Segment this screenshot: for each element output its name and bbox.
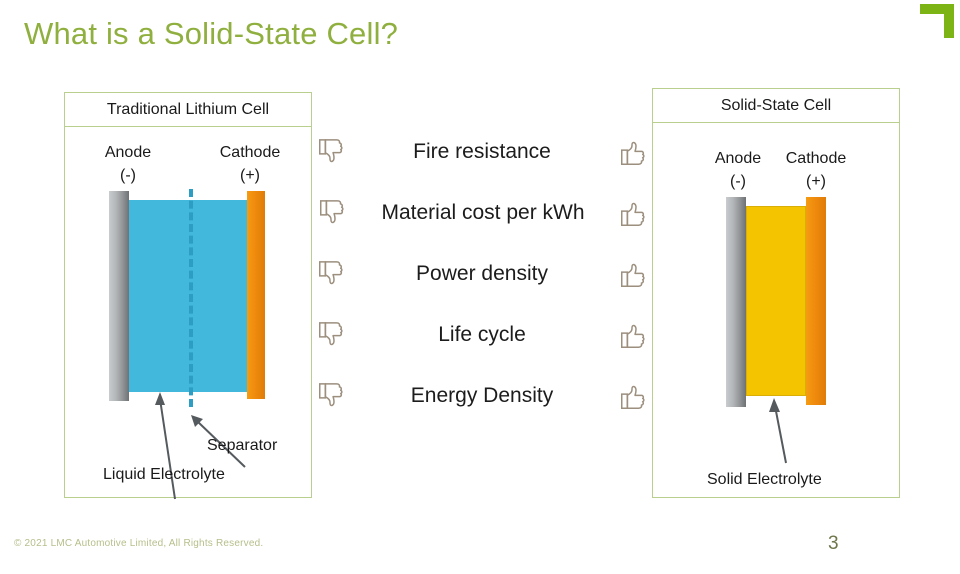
left-cathode-bar: [247, 191, 265, 399]
comparison-label-1: Fire resistance: [346, 140, 618, 164]
copyright-notice: © 2021 LMC Automotive Limited, All Right…: [14, 538, 263, 549]
right-anode-sign: (-): [697, 170, 779, 193]
comparison-row-5: Energy Density: [316, 374, 648, 418]
right-cathode-bar: [806, 197, 826, 405]
page-number: 3: [828, 533, 839, 555]
comparison-label-5: Energy Density: [346, 384, 618, 408]
page-title: What is a Solid-State Cell?: [24, 16, 398, 52]
comparison-row-2: Material cost per kWh: [316, 191, 648, 235]
separator-callout-label: Separator: [207, 437, 277, 455]
thumbs-up-icon: [618, 320, 648, 350]
left-anode-label: Anode: [75, 141, 181, 164]
left-cathode-label: Cathode: [197, 141, 303, 164]
left-separator-line: [189, 189, 193, 407]
solid-electrolyte-callout-label: Solid Electrolyte: [707, 471, 822, 489]
left-anode-bar: [109, 191, 129, 401]
comparison-label-2: Material cost per kWh: [348, 201, 618, 225]
comparison-list: Fire resistance Material cost per kWh: [316, 130, 648, 430]
right-anode-label: Anode: [697, 147, 779, 170]
slide-canvas: What is a Solid-State Cell? Traditional …: [0, 0, 960, 574]
right-cathode-sign: (+): [771, 170, 861, 193]
comparison-row-1: Fire resistance: [316, 130, 648, 174]
right-cathode-label: Cathode: [771, 147, 861, 170]
right-anode-label-group: Anode (-): [697, 147, 779, 193]
thumbs-down-icon: [316, 259, 346, 289]
thumbs-down-icon: [316, 137, 346, 167]
thumbs-up-icon: [618, 259, 648, 289]
traditional-cell-body: Anode (-) Cathode (+): [65, 127, 311, 497]
thumbs-up-icon: [618, 381, 648, 411]
thumbs-down-icon: [316, 381, 346, 411]
solid-state-cell-panel: Solid-State Cell Anode (-) Cathode (+): [652, 88, 900, 498]
comparison-label-4: Life cycle: [346, 323, 618, 347]
left-liquid-electrolyte-block: [129, 200, 247, 392]
right-anode-bar: [726, 197, 746, 407]
solid-state-cell-body: Anode (-) Cathode (+) Solid Electrolyte: [653, 123, 899, 497]
right-cathode-label-group: Cathode (+): [771, 147, 861, 193]
left-anode-label-group: Anode (-): [75, 141, 181, 187]
traditional-cell-header: Traditional Lithium Cell: [65, 93, 311, 127]
comparison-row-3: Power density: [316, 252, 648, 296]
thumbs-down-icon: [316, 198, 348, 228]
comparison-label-3: Power density: [346, 262, 618, 286]
thumbs-up-icon: [618, 198, 648, 228]
liquid-electrolyte-callout-label: Liquid Electrolyte: [103, 466, 225, 484]
left-cathode-sign: (+): [197, 164, 303, 187]
left-cathode-label-group: Cathode (+): [197, 141, 303, 187]
right-solid-electrolyte-block: [746, 206, 806, 396]
thumbs-up-icon: [618, 137, 648, 167]
solid-state-cell-header: Solid-State Cell: [653, 89, 899, 123]
comparison-row-4: Life cycle: [316, 313, 648, 357]
left-anode-sign: (-): [75, 164, 181, 187]
thumbs-down-icon: [316, 320, 346, 350]
traditional-lithium-cell-panel: Traditional Lithium Cell Anode (-) Catho…: [64, 92, 312, 498]
corner-bracket-icon: [916, 0, 958, 40]
